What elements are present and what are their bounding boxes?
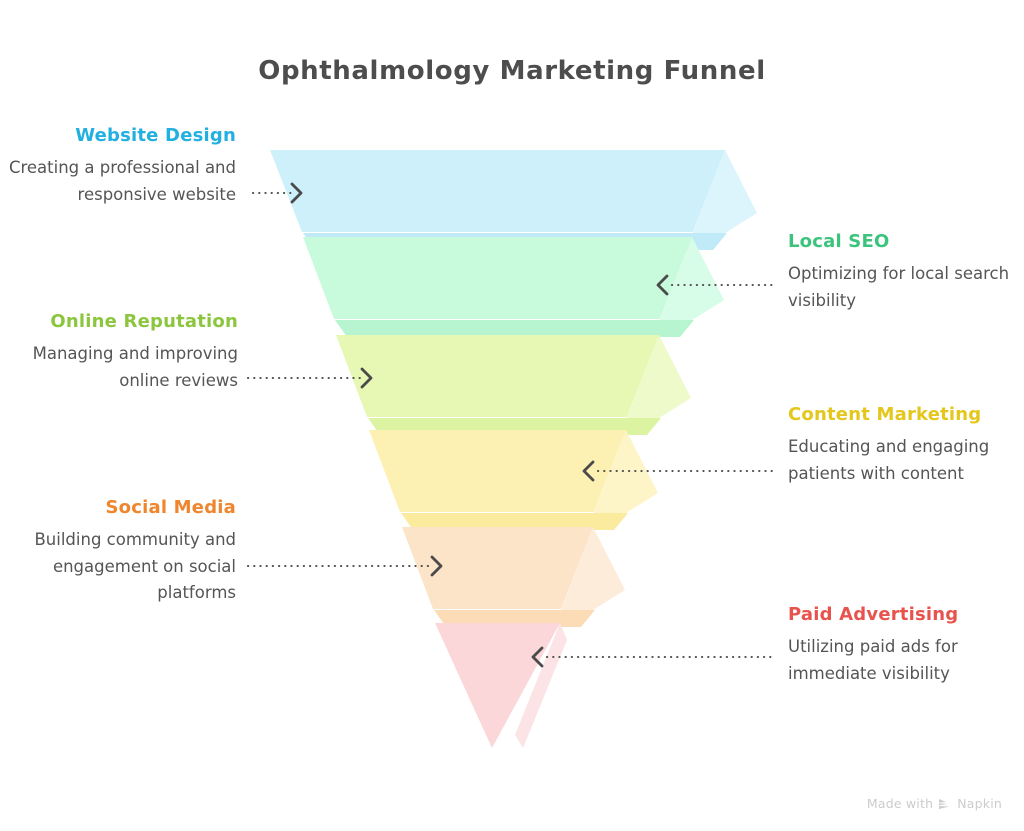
- stage-label-website-design[interactable]: Website Design Creating a professional a…: [0, 122, 236, 208]
- funnel-layer-front-face: [336, 335, 659, 417]
- watermark: Made with Napkin: [867, 796, 1002, 811]
- connector-paid-advertising: [533, 648, 776, 666]
- napkin-chevrons-icon: [938, 798, 952, 810]
- stage-description-website-design: Creating a professional and responsive w…: [0, 155, 236, 208]
- watermark-brand: Napkin: [957, 796, 1002, 811]
- stage-title-website-design: Website Design: [0, 122, 236, 149]
- stage-label-social-media[interactable]: Social Media Building community and enga…: [0, 494, 236, 607]
- funnel-layer-website-design[interactable]: [270, 150, 757, 250]
- funnel-layer-front-face: [369, 430, 626, 512]
- stage-description-local-seo: Optimizing for local search visibility: [788, 261, 1024, 314]
- stage-label-paid-advertising[interactable]: Paid Advertising Utilizing paid ads for …: [788, 601, 1024, 687]
- stage-description-online-reputation: Managing and improving online reviews: [0, 341, 238, 394]
- funnel-layer-social-media[interactable]: [402, 527, 625, 627]
- stage-title-online-reputation: Online Reputation: [0, 308, 238, 335]
- stage-title-social-media: Social Media: [0, 494, 236, 521]
- funnel-layer-content-marketing[interactable]: [369, 430, 658, 530]
- connector-social-media: [248, 557, 441, 575]
- funnel-layer-front-face: [402, 527, 593, 609]
- funnel-layer-paid-advertising[interactable]: [435, 623, 567, 748]
- stage-label-local-seo[interactable]: Local SEO Optimizing for local search vi…: [788, 228, 1024, 314]
- stage-label-content-marketing[interactable]: Content Marketing Educating and engaging…: [788, 401, 1000, 487]
- stage-title-paid-advertising: Paid Advertising: [788, 601, 1024, 628]
- diagram-canvas: Ophthalmology Marketing Funnel: [0, 0, 1024, 831]
- stage-description-social-media: Building community and engagement on soc…: [0, 527, 236, 607]
- funnel-layer-online-reputation[interactable]: [336, 335, 691, 435]
- funnel-layer-front-face: [303, 237, 692, 319]
- stage-description-paid-advertising: Utilizing paid ads for immediate visibil…: [788, 634, 1024, 687]
- funnel-layer-lip: [335, 320, 694, 337]
- stage-title-local-seo: Local SEO: [788, 228, 1024, 255]
- stage-title-content-marketing: Content Marketing: [788, 401, 1000, 428]
- watermark-prefix: Made with: [867, 796, 933, 811]
- funnel-layer-front-face: [270, 150, 725, 232]
- stage-description-content-marketing: Educating and engaging patients with con…: [788, 434, 1000, 487]
- stage-label-online-reputation[interactable]: Online Reputation Managing and improving…: [0, 308, 238, 394]
